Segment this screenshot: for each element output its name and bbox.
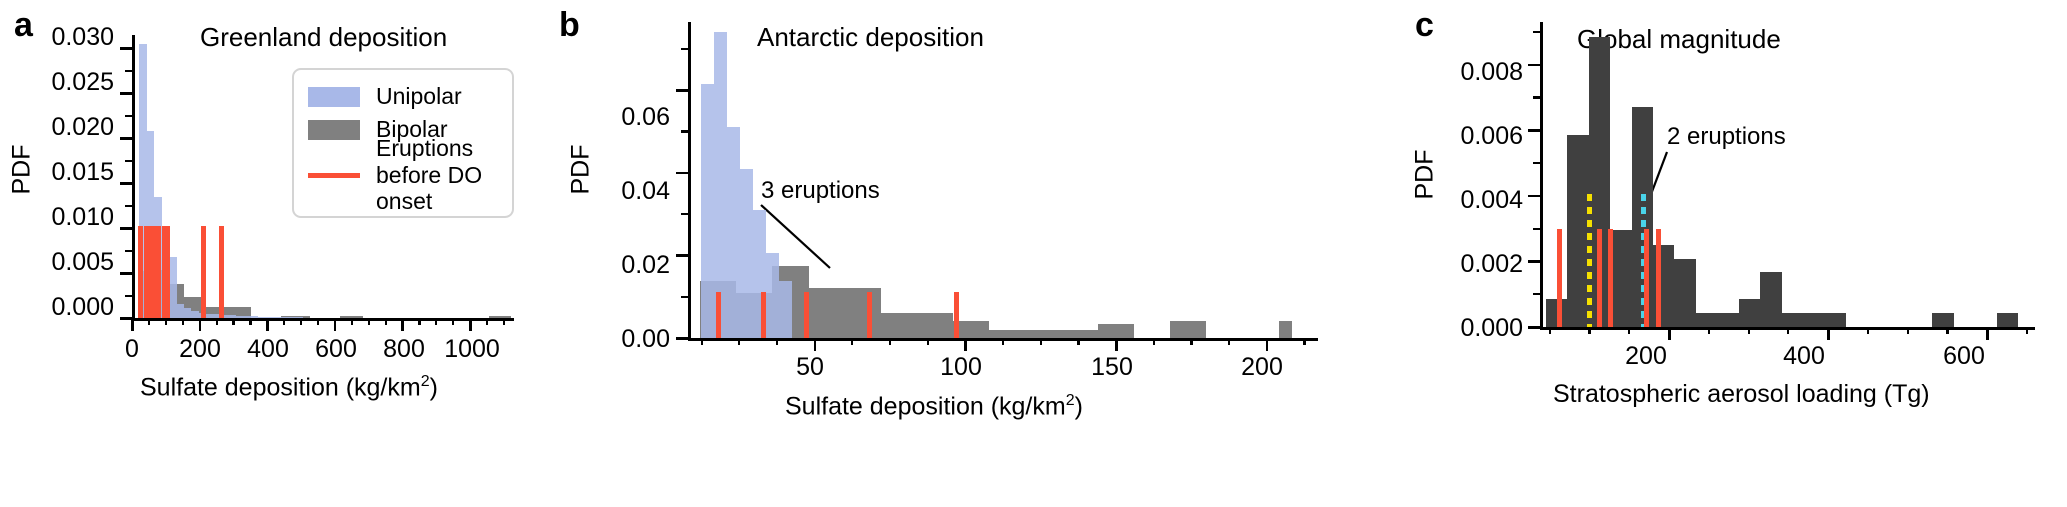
x-tick-minor [216, 318, 218, 325]
y-tick-minor [125, 70, 132, 72]
legend-row-eruptions: Eruptions before DO onset [308, 146, 498, 204]
histogram-bar [303, 316, 310, 318]
y-tick-minor [125, 115, 132, 117]
eruption-marker-line [1608, 229, 1613, 327]
x-tick-minor [283, 318, 285, 325]
histogram-bar [489, 316, 496, 318]
y-tick-minor [125, 47, 132, 49]
histogram-bar [727, 127, 740, 338]
histogram-bar [779, 281, 792, 338]
x-tick-minor [435, 318, 437, 325]
histogram-bar [244, 316, 251, 318]
histogram-bar [740, 169, 753, 338]
eruption-marker-line [165, 226, 170, 318]
histogram-bar [881, 313, 917, 338]
histogram-bar [1997, 313, 2018, 327]
x-tick-minor [266, 318, 268, 325]
legend-swatch-bipolar [308, 120, 360, 140]
histogram-bar [1825, 313, 1846, 327]
histogram-bar [348, 316, 355, 318]
panel-a: a Greenland deposition PDF 0.030 0.025 0… [0, 0, 545, 507]
histogram-bar [1026, 330, 1062, 338]
eruption-marker-line [954, 292, 959, 338]
eruption-marker-line [201, 226, 206, 318]
eruption-marker-line [804, 292, 809, 338]
panel-c-annotation-leader [1405, 0, 2067, 507]
eruption-marker-line [716, 292, 721, 338]
x-tick-minor [199, 318, 201, 325]
histogram-bar [845, 288, 881, 338]
yellow-dashed-reference-line [1587, 194, 1592, 327]
x-tick-minor [486, 318, 488, 325]
histogram-bar [206, 314, 213, 318]
panel-b-annotation-leader [545, 0, 1405, 507]
histogram-bar [766, 253, 779, 338]
histogram-bar [177, 304, 184, 318]
x-tick-minor [232, 318, 234, 325]
histogram-bar [1717, 313, 1738, 327]
y-tick-minor [125, 272, 132, 274]
eruption-marker-line [1656, 229, 1661, 327]
y-tick-minor [125, 182, 132, 184]
x-tick-minor [503, 318, 505, 325]
eruption-marker-line [867, 292, 872, 338]
x-axis-line [132, 318, 514, 321]
x-tick-minor [469, 318, 471, 325]
histogram-bar [296, 317, 303, 318]
histogram-bar [1062, 330, 1098, 338]
histogram-bar [989, 330, 1025, 338]
x-tick-minor [418, 318, 420, 325]
panel-a-ytick-4: 0.010 [14, 203, 114, 232]
eruption-marker-line [156, 226, 161, 318]
histogram-bar [1098, 324, 1134, 338]
y-tick-minor [125, 250, 132, 252]
panel-a-xlabel-tail: ) [430, 373, 438, 401]
histogram-bar [1170, 321, 1206, 338]
histogram-bar [273, 317, 280, 318]
legend-swatch-eruption-line [308, 165, 360, 185]
x-tick-minor [165, 318, 167, 325]
panel-a-ytick-1: 0.025 [14, 68, 114, 97]
panel-a-ytick-6: 0.000 [14, 293, 114, 322]
eruption-marker-line [761, 292, 766, 338]
histogram-bar [701, 84, 714, 338]
histogram-bar [1674, 259, 1695, 327]
panel-a-ytick-5: 0.005 [14, 248, 114, 277]
legend-label-unipolar: Unipolar [376, 83, 462, 109]
eruption-marker-line [1644, 229, 1649, 327]
histogram-bar [355, 316, 362, 318]
x-tick-minor [351, 318, 353, 325]
histogram-bar [184, 308, 191, 318]
histogram-bar [504, 316, 511, 318]
x-tick-minor [334, 318, 336, 325]
legend-label-eruptions: Eruptions before DO onset [376, 135, 498, 214]
panel-a-xlabel: Sulfate deposition (kg/km2) [140, 373, 438, 402]
histogram-bar [229, 315, 236, 318]
panel-b: b Antarctic deposition PDF 0.06 0.04 0.0… [545, 0, 1405, 507]
panel-a-ytick-0: 0.030 [14, 23, 114, 52]
panel-c: c Global magnitude PDF 0.008 0.006 0.004… [1405, 0, 2067, 507]
x-tick-minor [300, 318, 302, 325]
y-tick-minor [125, 92, 132, 94]
panel-a-ytick-2: 0.020 [14, 113, 114, 142]
legend: Unipolar Bipolar Eruptions before DO ons… [292, 68, 514, 218]
panel-a-xtick-5: 1000 [434, 335, 510, 364]
panel-a-ytick-3: 0.015 [14, 158, 114, 187]
figure-root: a Greenland deposition PDF 0.030 0.025 0… [0, 0, 2067, 507]
y-tick-minor [125, 137, 132, 139]
histogram-bar [191, 311, 198, 318]
panel-a-xlabel-main: Sulfate deposition (kg/km [140, 373, 421, 401]
y-tick-minor [125, 205, 132, 207]
x-tick-minor [385, 318, 387, 325]
eruption-marker-line [1557, 229, 1562, 327]
histogram-bar [1739, 299, 1760, 327]
histogram-bar [251, 316, 258, 318]
x-tick-minor [182, 318, 184, 325]
x-tick-minor [368, 318, 370, 325]
histogram-bar [809, 288, 845, 338]
histogram-bar [1803, 313, 1824, 327]
eruption-marker-line [1597, 229, 1602, 327]
panel-a-xtick-1: 200 [168, 335, 232, 364]
histogram-bar [1932, 313, 1953, 327]
panel-a-xtick-2: 400 [236, 335, 300, 364]
histogram-bar [1610, 230, 1631, 327]
histogram-bar [266, 317, 273, 318]
x-tick-minor [317, 318, 319, 325]
y-axis-line [132, 35, 135, 318]
histogram-bar [288, 317, 295, 318]
panel-a-xtick-3: 600 [304, 335, 368, 364]
x-tick-minor [131, 318, 133, 325]
histogram-bar [1279, 321, 1292, 338]
panel-a-xtick-0: 0 [100, 335, 164, 364]
histogram-bar [169, 257, 176, 318]
legend-swatch-unipolar [308, 87, 360, 107]
x-tick-minor [249, 318, 251, 325]
x-tick-minor [148, 318, 150, 325]
histogram-bar [1567, 135, 1588, 327]
histogram-bar [236, 316, 243, 318]
x-tick-minor [452, 318, 454, 325]
y-tick-minor [125, 227, 132, 229]
eruption-marker-line [219, 226, 224, 318]
histogram-bar [1782, 313, 1803, 327]
histogram-bar [496, 316, 503, 318]
x-tick-minor [401, 318, 403, 325]
panel-a-xlabel-sup: 2 [421, 373, 430, 390]
legend-label-eruptions-line2: before DO onset [376, 162, 498, 215]
histogram-bar [281, 317, 288, 318]
y-tick-minor [125, 295, 132, 297]
histogram-bar [340, 316, 347, 318]
histogram-bar [258, 317, 265, 318]
histogram-bar [1760, 272, 1781, 327]
y-tick-minor [125, 160, 132, 162]
panel-a-xtick-4: 800 [372, 335, 436, 364]
histogram-bar [917, 313, 953, 338]
histogram-bar [1696, 313, 1717, 327]
legend-row-unipolar: Unipolar [308, 80, 498, 113]
legend-label-eruptions-line1: Eruptions [376, 135, 473, 161]
